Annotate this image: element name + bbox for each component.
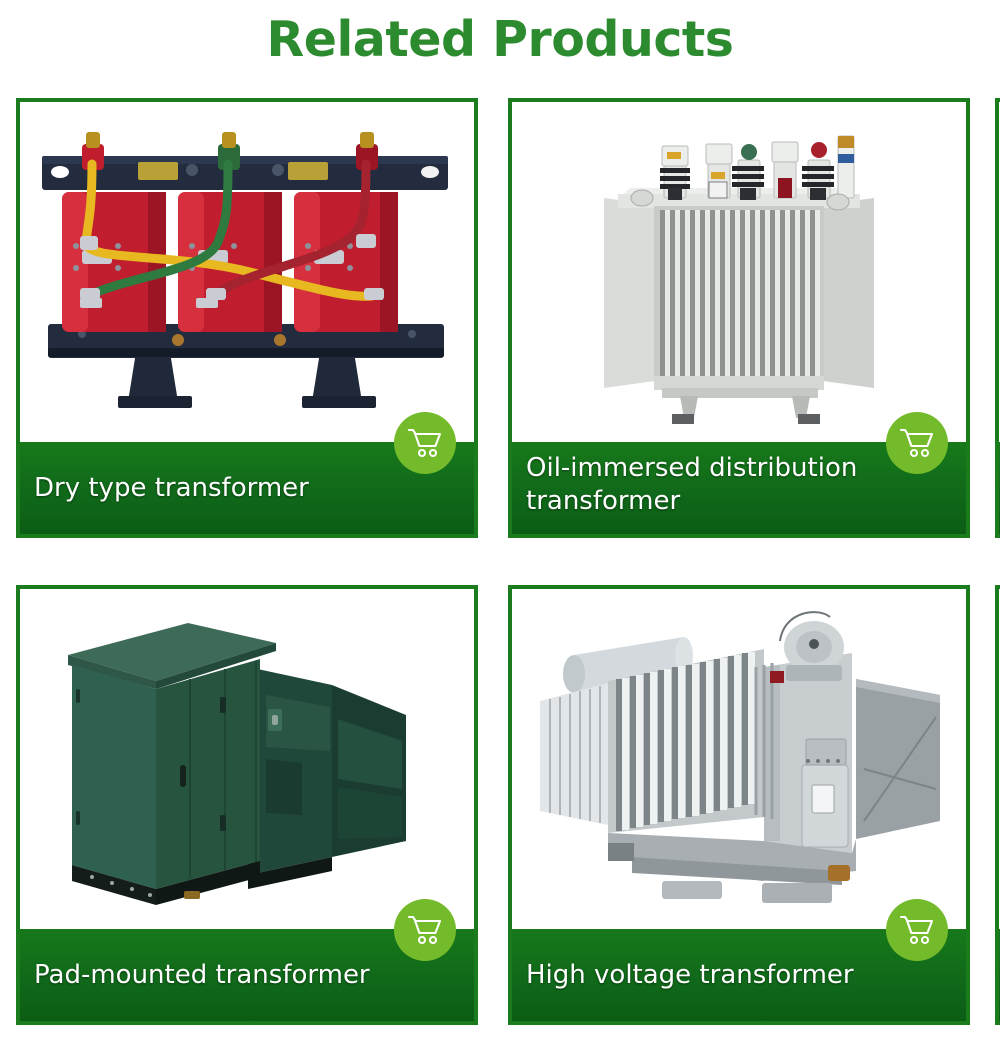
- shopping-cart-icon: [407, 427, 443, 459]
- product-card-pad-mounted-transformer[interactable]: Pad-mounted transformer: [16, 585, 478, 1025]
- product-image-pad-mounted-transformer: [20, 589, 474, 929]
- product-card-dry-type-transformer[interactable]: Dry type transformer: [16, 98, 478, 538]
- product-title: High voltage transformer: [526, 959, 854, 992]
- product-title: Oil-immersed distribution transformer: [526, 452, 886, 518]
- product-image-oil-immersed-distribution-transformer: [512, 102, 966, 442]
- add-to-cart-button-dry-type-transformer[interactable]: [394, 412, 456, 474]
- page-title: Related Products: [0, 8, 1000, 72]
- add-to-cart-button-pad-mounted-transformer[interactable]: [394, 899, 456, 961]
- product-image-high-voltage-transformer: [512, 589, 966, 929]
- shopping-cart-icon: [899, 914, 935, 946]
- add-to-cart-button-oil-immersed-distribution-transformer[interactable]: [886, 412, 948, 474]
- product-grid: Dry type transformer: [16, 98, 1000, 1038]
- product-card-oil-immersed-distribution-transformer[interactable]: Oil-immersed distribution transformer: [508, 98, 970, 538]
- shopping-cart-icon: [407, 914, 443, 946]
- product-card-partial-top-right[interactable]: [995, 98, 1000, 538]
- product-card-partial-bottom-right[interactable]: [995, 585, 1000, 1025]
- shopping-cart-icon: [899, 427, 935, 459]
- product-title: Pad-mounted transformer: [34, 959, 370, 992]
- product-image-dry-type-transformer: [20, 102, 474, 442]
- product-title: Dry type transformer: [34, 472, 309, 505]
- add-to-cart-button-high-voltage-transformer[interactable]: [886, 899, 948, 961]
- product-card-high-voltage-transformer[interactable]: High voltage transformer: [508, 585, 970, 1025]
